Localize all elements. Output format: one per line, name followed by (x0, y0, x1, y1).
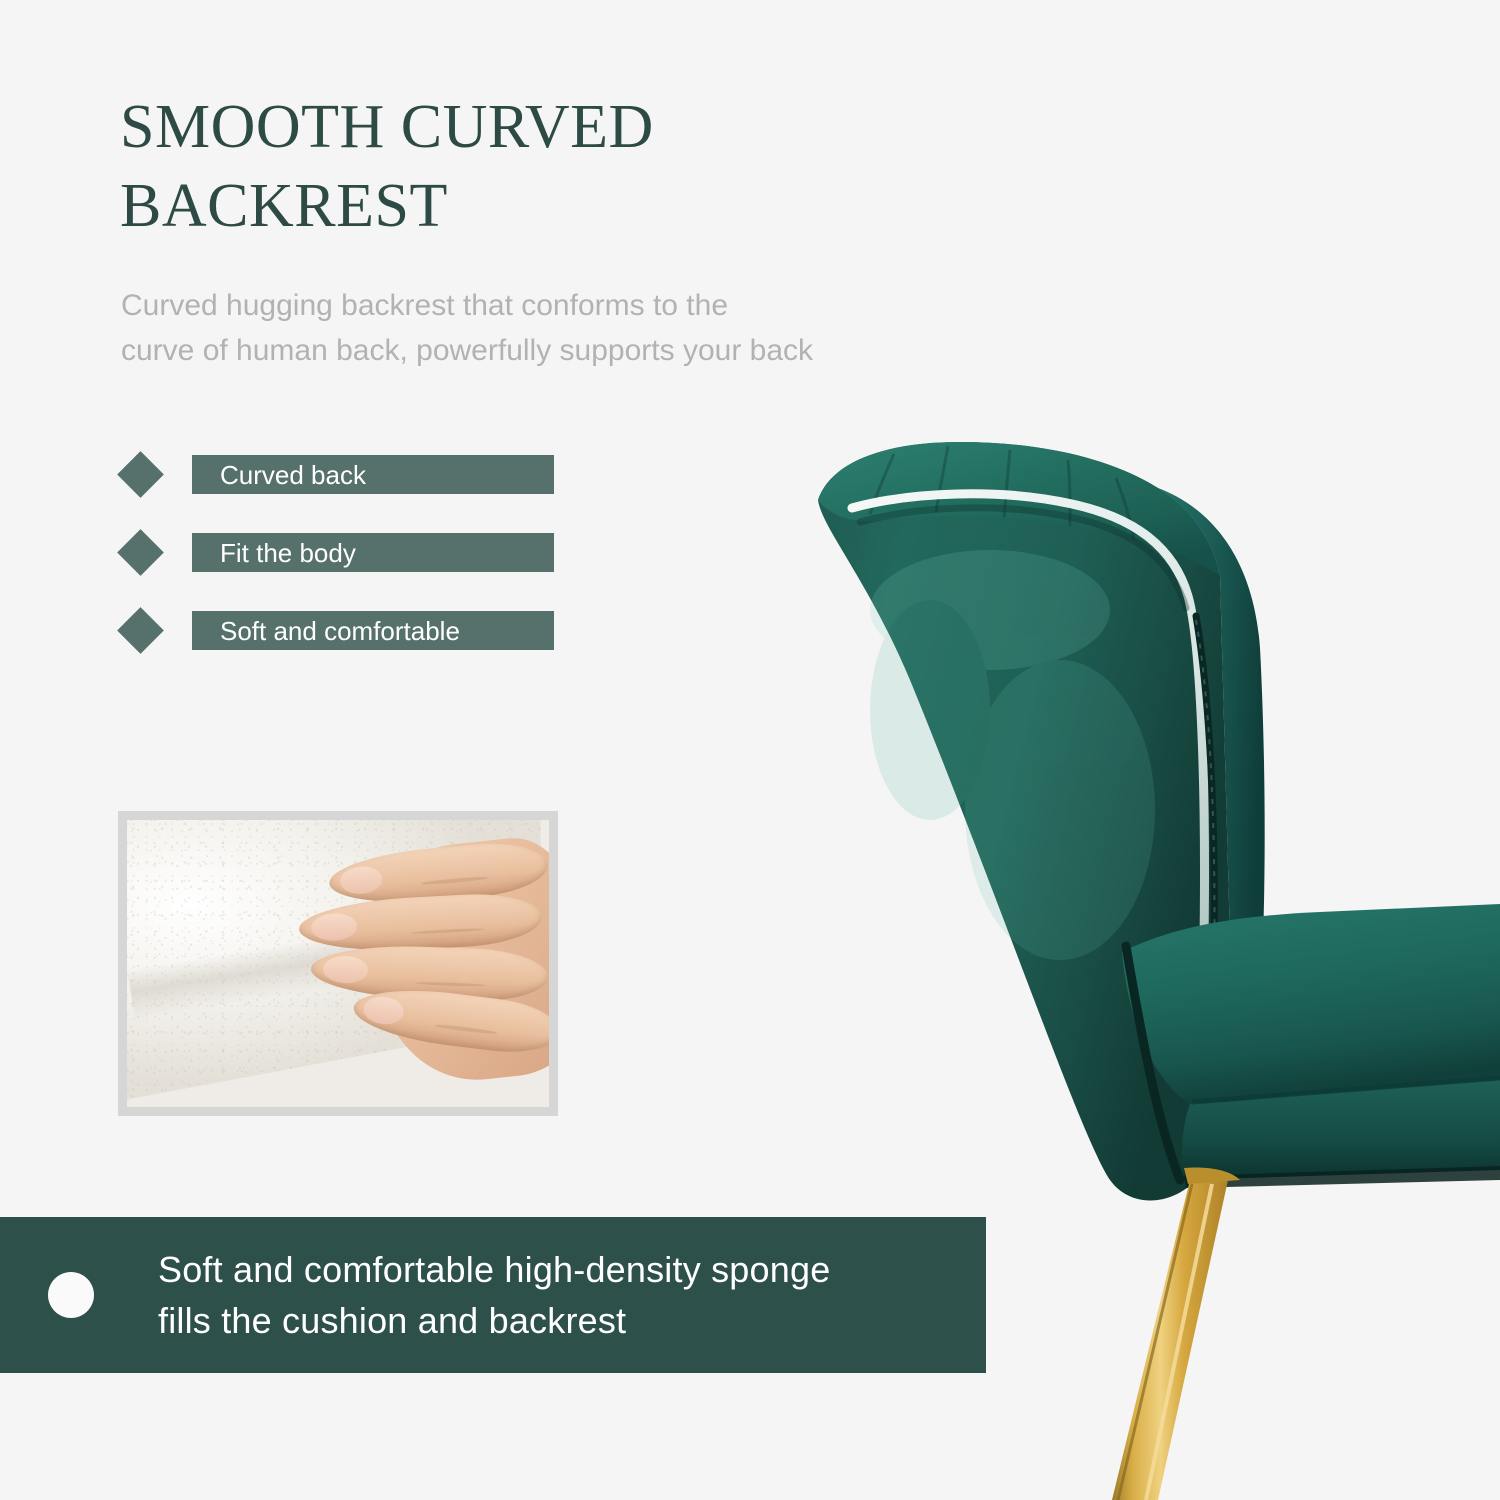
banner-text: Soft and comfortable high-density sponge… (158, 1244, 830, 1346)
fingernail (363, 994, 405, 1026)
feature-bar: Curved back (192, 455, 554, 494)
chair-seat-cushion (1122, 904, 1500, 1104)
foam-photo-inner (127, 820, 549, 1107)
knuckle-crease (435, 1024, 497, 1035)
product-feature-page: SMOOTH CURVED BACKREST Curved hugging ba… (0, 0, 1500, 1500)
feature-label: Fit the body (192, 540, 356, 566)
feature-bar: Soft and comfortable (192, 611, 554, 650)
diamond-icon (117, 607, 164, 654)
list-item: Curved back (118, 448, 588, 526)
list-item: Soft and comfortable (118, 604, 588, 682)
list-item: Fit the body (118, 526, 588, 604)
page-title: SMOOTH CURVED BACKREST (120, 88, 880, 247)
diamond-icon (117, 529, 164, 576)
fingernail (322, 955, 368, 984)
hand-illustration (262, 826, 549, 1102)
knuckle-crease (415, 981, 486, 987)
fingernail (310, 912, 358, 942)
fingernail (339, 864, 383, 895)
knuckle-crease (411, 928, 484, 935)
feature-bar: Fit the body (192, 533, 554, 572)
feature-label: Curved back (192, 462, 366, 488)
circle-bullet-icon (48, 1272, 94, 1318)
page-subtitle: Curved hugging backrest that conforms to… (121, 283, 1001, 373)
feature-list: Curved back Fit the body Soft and comfor… (118, 448, 588, 682)
feature-label: Soft and comfortable (192, 618, 460, 644)
foam-inset-photo (118, 811, 558, 1116)
knuckle-crease (421, 876, 487, 885)
diamond-icon (117, 451, 164, 498)
bottom-banner: Soft and comfortable high-density sponge… (0, 1217, 986, 1373)
